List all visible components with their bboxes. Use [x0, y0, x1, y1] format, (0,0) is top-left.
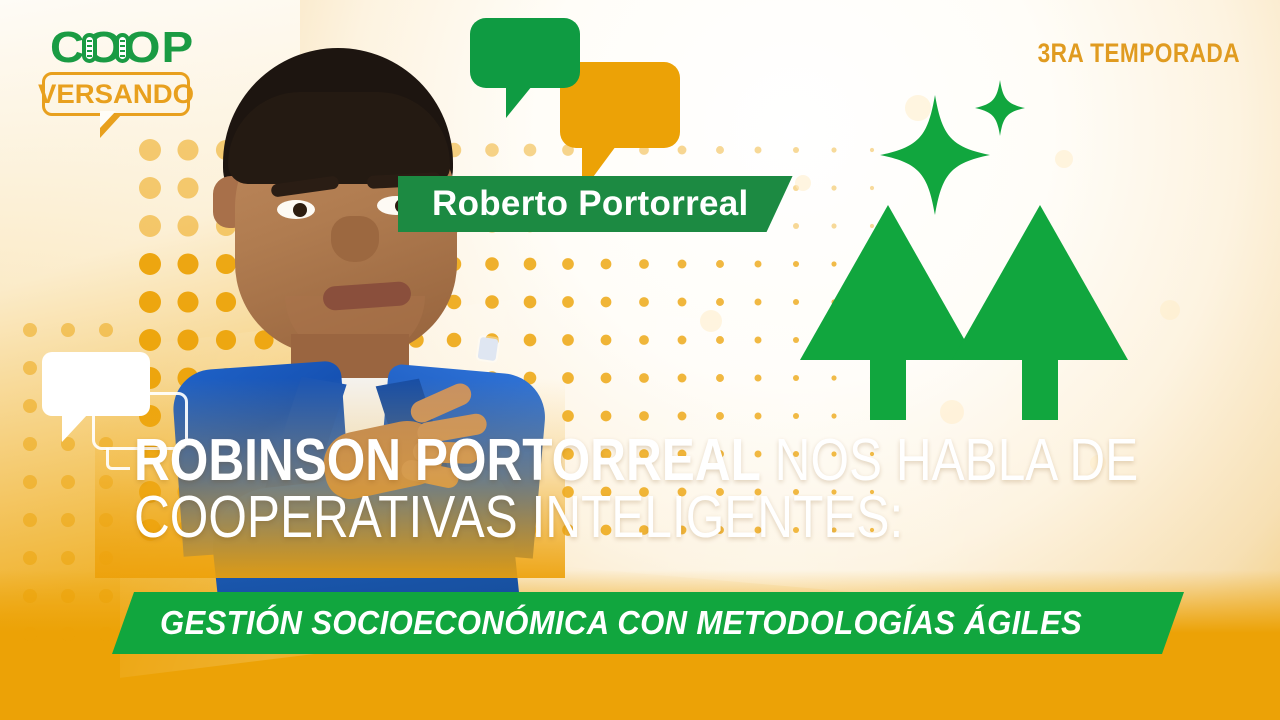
headline-block: ROBINSON PORTORREAL NOS HABLA DE COOPERA…: [134, 432, 1194, 545]
bokeh-dot: [795, 175, 811, 191]
sparkle-large-icon: [880, 95, 990, 215]
corn-cob-icon: [115, 33, 130, 63]
subtitle-text: GESTIÓN SOCIOECONÓMICA CON METODOLOGÍAS …: [160, 604, 1082, 642]
bokeh-dot: [1160, 300, 1180, 320]
guest-name-banner: Roberto Portorreal: [398, 176, 793, 232]
sparkle-small-icon: [975, 80, 1025, 136]
logo-versando-text: VERSANDO: [41, 72, 192, 116]
corn-cob-icon: [82, 33, 97, 63]
youtube-thumbnail: COOP VERSANDO 3RA TEMPORADA Roberto Port…: [0, 0, 1280, 720]
white-speech-bubble-tail: [62, 414, 88, 442]
pine-tree-left-icon: [800, 205, 976, 420]
bokeh-dot: [700, 310, 722, 332]
white-speech-bubble-outline-tail: [106, 448, 130, 470]
bokeh-dot: [1055, 150, 1073, 168]
season-label: 3RA TEMPORADA: [1038, 38, 1240, 69]
subtitle-bar: GESTIÓN SOCIOECONÓMICA CON METODOLOGÍAS …: [112, 592, 1184, 654]
headline-line-2: COOPERATIVAS INTELIGENTES:: [134, 489, 1024, 546]
pine-tree-right-icon: [952, 205, 1128, 420]
guest-name-text: Roberto Portorreal: [432, 184, 749, 224]
coopversando-logo[interactable]: COOP VERSANDO: [42, 26, 192, 126]
headline-line-1: ROBINSON PORTORREAL NOS HABLA DE: [134, 432, 1024, 489]
